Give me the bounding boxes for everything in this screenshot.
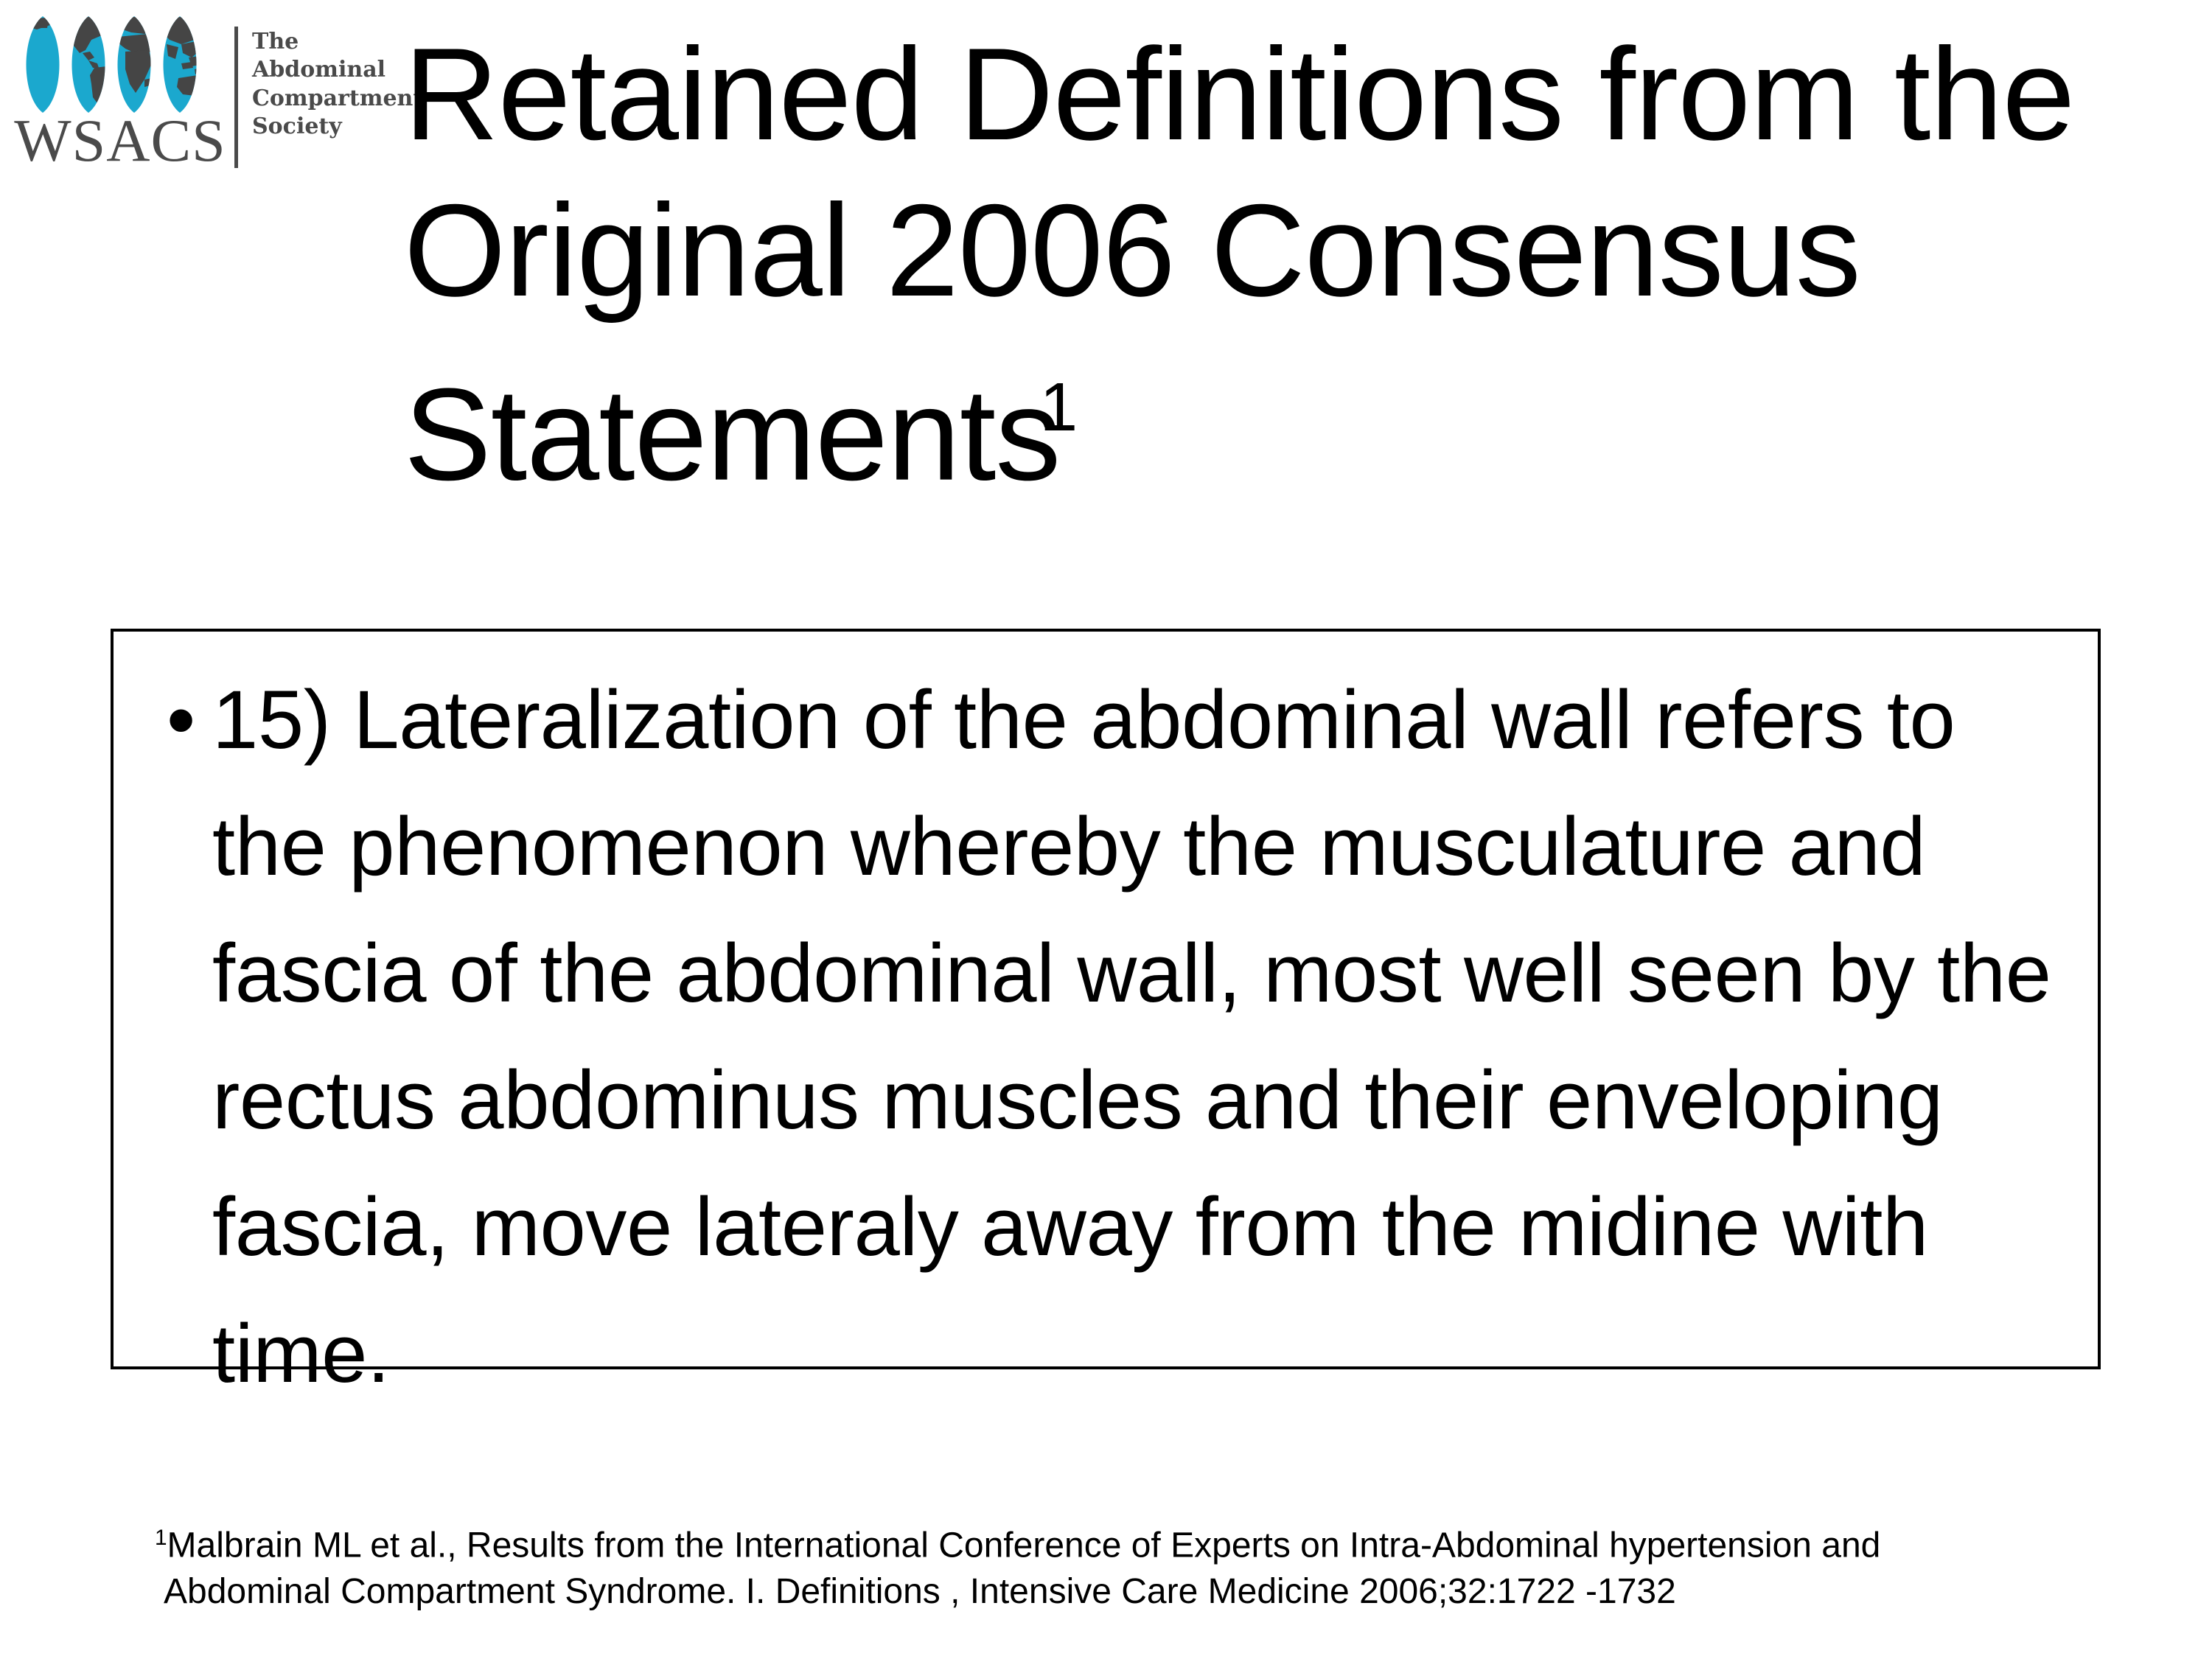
bullet-point-icon: •	[167, 657, 212, 783]
globe-map-icon	[15, 15, 225, 114]
wsacs-logo: WSACS The Abdominal Compartment Society	[9, 6, 392, 172]
page-title-line-3: Statements1	[404, 329, 2143, 513]
list-item: • 15) Lateralization of the abdominal wa…	[167, 657, 2071, 1417]
logo-tagline-line-1: The	[252, 28, 392, 56]
list-item-text: 15) Lateralization of the abdominal wall…	[212, 657, 2071, 1417]
logo-tagline-line-2: Abdominal	[252, 56, 392, 84]
footnote-line-1: 1Malbrain ML et al., Results from the In…	[155, 1515, 2115, 1568]
logo-divider	[234, 27, 238, 168]
logo-tagline: The Abdominal Compartment Society	[252, 28, 392, 142]
footnote-line-1-text: Malbrain ML et al., Results from the Int…	[167, 1526, 1881, 1565]
footnote-line-2: Abdominal Compartment Syndrome. I. Defin…	[155, 1568, 2115, 1615]
logo-tagline-line-4: Society	[252, 113, 392, 141]
definition-content-box: • 15) Lateralization of the abdominal wa…	[111, 629, 2101, 1369]
footnote-citation: 1Malbrain ML et al., Results from the In…	[155, 1515, 2115, 1615]
logo-tagline-line-3: Compartment	[252, 85, 392, 113]
page-title-line-2: Original 2006 Consensus	[404, 172, 2143, 329]
wsacs-wordmark: WSACS	[13, 111, 227, 171]
page-title-line-3-text: Statements	[404, 361, 1060, 508]
page-title-footnote-ref: 1	[1040, 369, 1078, 445]
bullet-list: • 15) Lateralization of the abdominal wa…	[167, 657, 2071, 1417]
footnote-ref-marker: 1	[155, 1526, 167, 1550]
page-title: Retained Definitions from the Original 2…	[404, 16, 2143, 513]
page-title-line-1: Retained Definitions from the	[404, 16, 2143, 172]
